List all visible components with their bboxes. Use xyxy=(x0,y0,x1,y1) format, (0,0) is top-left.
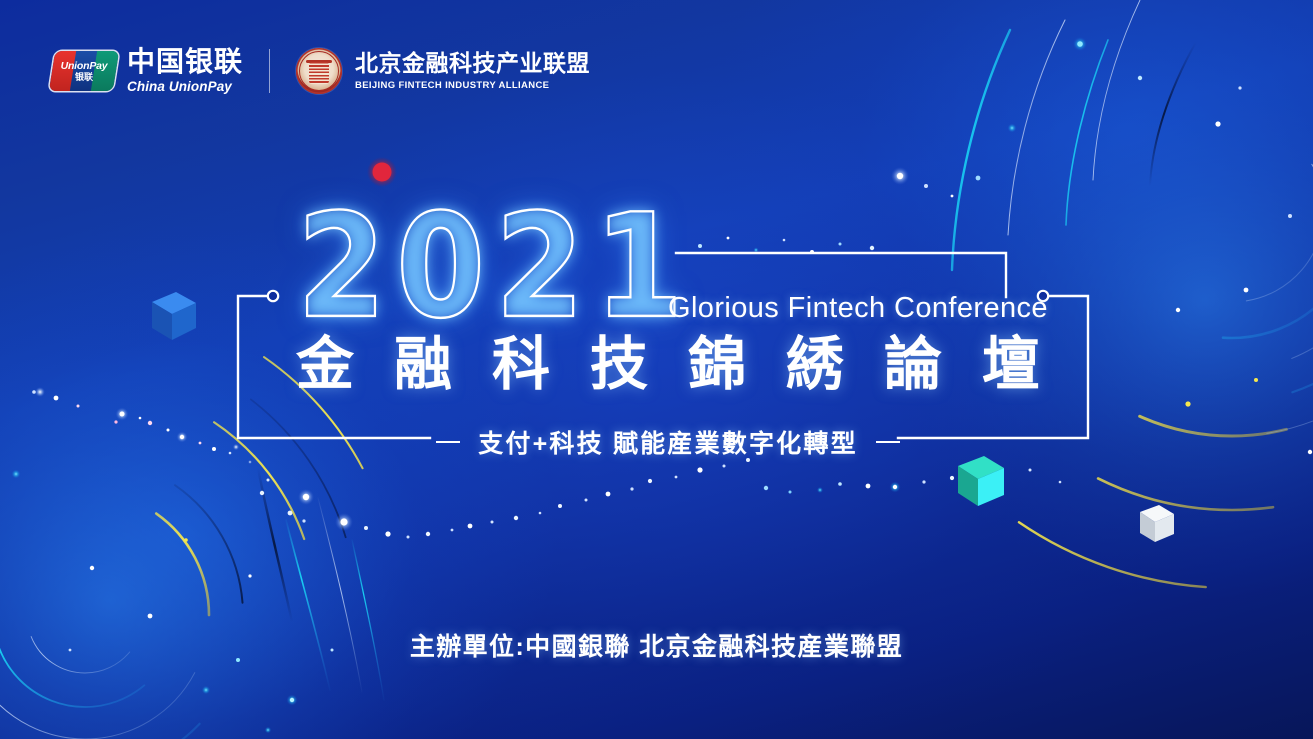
title-char: 技 xyxy=(590,336,648,394)
tagline-rule-left xyxy=(436,441,460,443)
unionpay-logo[interactable]: UnionPay 银联 中国银联 China UnionPay xyxy=(52,48,243,94)
bfia-seal-icon xyxy=(296,48,342,94)
title-char: 綉 xyxy=(786,336,844,394)
tagline: 支付+科技 賦能産業數字化轉型 xyxy=(478,424,858,460)
bfia-name-cn: 北京金融科技产业联盟 xyxy=(355,52,590,75)
title-char: 壇 xyxy=(982,336,1040,394)
title-char: 融 xyxy=(394,336,452,394)
title-char: 論 xyxy=(884,336,942,394)
bfia-logo[interactable]: 北京金融科技产业联盟 BEIJING FINTECH INDUSTRY ALLI… xyxy=(296,48,590,94)
unionpay-mark-icon: UnionPay 银联 xyxy=(49,51,119,91)
bfia-name-en: BEIJING FINTECH INDUSTRY ALLIANCE xyxy=(355,81,590,91)
sponsor-logo-bar: UnionPay 银联 中国银联 China UnionPay 北京金融科技产业… xyxy=(52,48,590,94)
title-char: 金 xyxy=(296,336,354,394)
unionpay-mark-line2: 银联 xyxy=(75,73,93,82)
tagline-rule-right xyxy=(876,441,900,443)
tagline-row: 支付+科技 賦能産業數字化轉型 xyxy=(296,424,1040,460)
unionpay-name-en: China UnionPay xyxy=(127,80,243,94)
title-char: 錦 xyxy=(688,336,746,394)
poster-canvas: UnionPay 银联 中国银联 China UnionPay 北京金融科技产业… xyxy=(0,0,1313,739)
title-char: 科 xyxy=(492,336,550,394)
chinese-title: 金 融 科 技 錦 綉 論 壇 xyxy=(296,336,1040,394)
host-organizations: 主辦單位:中國銀聯 北京金融科技産業聯盟 xyxy=(0,627,1313,663)
unionpay-mark-line1: UnionPay xyxy=(61,61,108,72)
logo-divider xyxy=(269,49,270,93)
english-subtitle: Glorious Fintech Conference xyxy=(668,292,1048,325)
year-2021: 2021 xyxy=(297,196,693,339)
unionpay-name-cn: 中国银联 xyxy=(127,48,243,76)
